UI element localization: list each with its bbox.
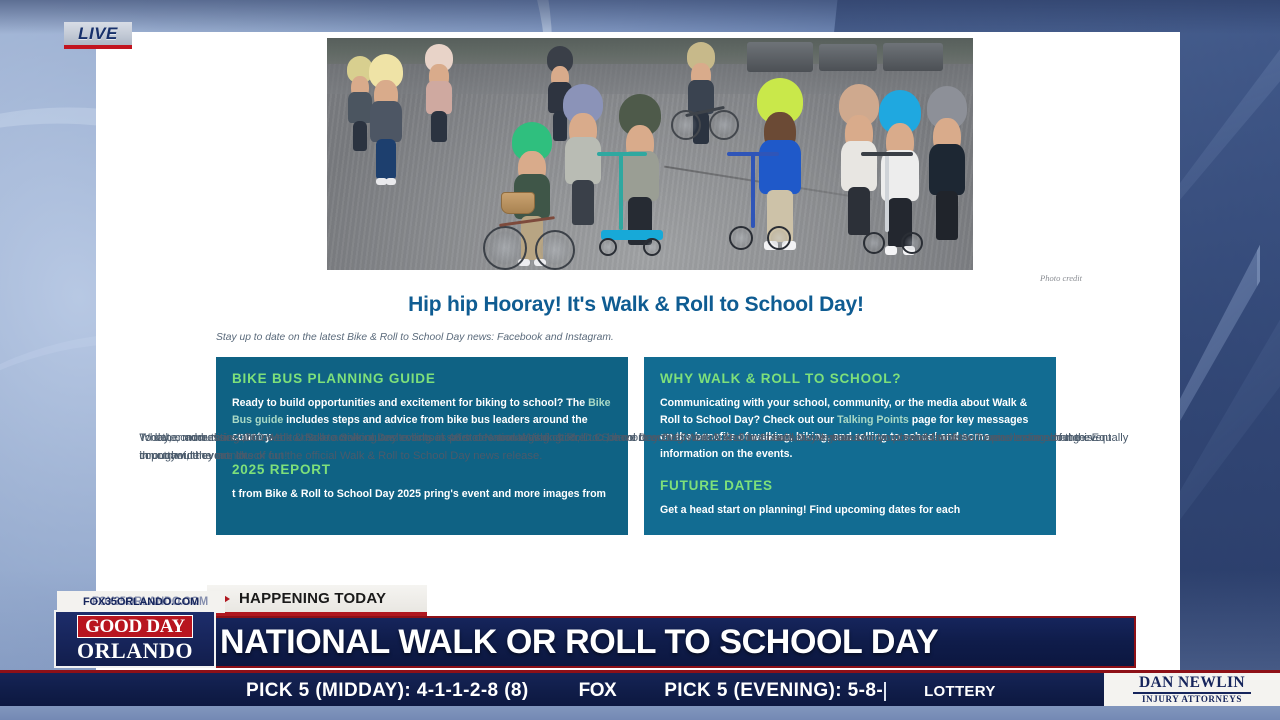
photo-bike-frame: [499, 216, 555, 227]
photo-scooter-handlebar: [861, 152, 913, 156]
page-inner: Photo credit Hip hip Hooray! It's Walk &…: [96, 32, 1180, 535]
photo-child-5: [757, 78, 803, 178]
photo-scooter-handlebar: [597, 152, 647, 156]
hero-photo: [327, 38, 973, 270]
photo-scooter-handlebar: [727, 152, 779, 156]
photo-bike-basket: [501, 192, 535, 214]
photo-torso: [929, 144, 966, 195]
live-badge-box: LIVE: [64, 22, 132, 45]
photo-legs: [431, 111, 447, 142]
photo-wheel: [767, 226, 791, 250]
photo-shoe: [386, 178, 396, 185]
live-badge-label: LIVE: [78, 24, 118, 43]
photo-legs: [936, 191, 958, 240]
news-ticker: PICK 5 (MIDDAY): 4-1-1-2-8 (8) FOX PICK …: [0, 670, 1280, 706]
photo-wheel: [729, 226, 753, 250]
photo-wheel: [599, 238, 617, 256]
photo-car-1: [747, 42, 813, 72]
photo-scooter-blue: [721, 180, 801, 270]
card-body-pre: Ready to build opportunities and excitem…: [232, 397, 588, 409]
station-show-logo: GOOD DAY ORLANDO: [54, 610, 216, 668]
lower-third: HAPPENING TODAY NATIONAL WALK OR ROLL TO…: [0, 585, 1280, 720]
web-article-page[interactable]: Photo credit Hip hip Hooray! It's Walk &…: [96, 32, 1180, 672]
photo-legs: [376, 139, 395, 179]
photo-scooter-stem: [751, 154, 755, 228]
live-badge-rule: [64, 45, 132, 49]
photo-wheel: [535, 230, 575, 270]
ticker-evening-result: PICK 5 (EVENING): 5-8-: [664, 680, 883, 702]
card-title: WHY WALK & ROLL TO SCHOOL?: [660, 371, 1040, 386]
photo-wheel: [863, 232, 885, 254]
photo-child-1: [369, 54, 403, 130]
photo-wheel: [709, 110, 739, 140]
headline-bar: NATIONAL WALK OR ROLL TO SCHOOL DAY: [196, 616, 1136, 668]
page-title: Hip hip Hooray! It's Walk & Roll to Scho…: [216, 293, 1056, 317]
article-body: Hip hip Hooray! It's Walk & Roll to Scho…: [96, 283, 1180, 345]
photo-scooter-white: [857, 188, 933, 270]
photo-legs: [353, 121, 368, 151]
kicker-label: HAPPENING TODAY: [239, 590, 386, 607]
photo-wheel: [643, 238, 661, 256]
ticker-caret: [884, 682, 886, 701]
photo-child-4: [619, 94, 661, 186]
photo-torso: [426, 81, 452, 113]
photo-scooter-stem: [619, 154, 623, 230]
photo-car-3: [883, 43, 943, 71]
station-url-label: FOX35ORLANDO.COM: [83, 596, 199, 608]
photo-torso: [565, 137, 602, 183]
photo-car-2: [819, 44, 877, 71]
article-social-note: Stay up to date on the latest Bike & Rol…: [216, 330, 1056, 345]
talking-points-link[interactable]: Talking Points: [837, 414, 909, 426]
sponsor-name: DAN NEWLIN: [1139, 675, 1245, 691]
sponsor-badge: DAN NEWLIN INJURY ATTORNEYS: [1104, 670, 1280, 706]
photo-child-bg-4: [687, 42, 715, 104]
photo-child-8: [927, 86, 967, 180]
photo-wheel: [901, 232, 923, 254]
photo-credit: Photo credit: [96, 270, 1180, 283]
live-badge: LIVE: [64, 22, 132, 49]
photo-bicycle-front: [477, 208, 587, 270]
card-title: BIKE BUS PLANNING GUIDE: [232, 371, 612, 386]
hero-wrapper: [96, 32, 1180, 270]
photo-torso: [370, 101, 401, 142]
ticker-category-label: LOTTERY: [924, 683, 996, 700]
photo-child-bg-2: [425, 44, 453, 104]
kicker-banner: HAPPENING TODAY: [207, 585, 427, 612]
background-top-shade: [0, 0, 1280, 34]
broadcast-headline: NATIONAL WALK OR ROLL TO SCHOOL DAY: [220, 623, 938, 662]
logo-good-day-box: GOOD DAY: [77, 615, 193, 638]
photo-scooter-teal: [595, 186, 669, 270]
photo-child-3: [563, 84, 603, 170]
photo-legs: [572, 180, 594, 225]
sponsor-tagline: INJURY ATTORNEYS: [1142, 695, 1242, 704]
logo-line-2: ORLANDO: [77, 639, 193, 662]
paragraph-3-text: Whether addressing the need to make acti…: [139, 432, 1128, 462]
photo-torso: [841, 141, 878, 191]
photo-scooter-stem: [885, 154, 889, 232]
photo-wheel: [483, 226, 527, 270]
photo-bicycle-bg: [671, 96, 741, 142]
photo-child-6: [839, 84, 879, 176]
logo-line-1: GOOD DAY: [85, 616, 185, 637]
ticker-network-label: FOX: [579, 680, 617, 702]
ticker-midday-result: PICK 5 (MIDDAY): 4-1-1-2-8 (8): [246, 680, 529, 702]
